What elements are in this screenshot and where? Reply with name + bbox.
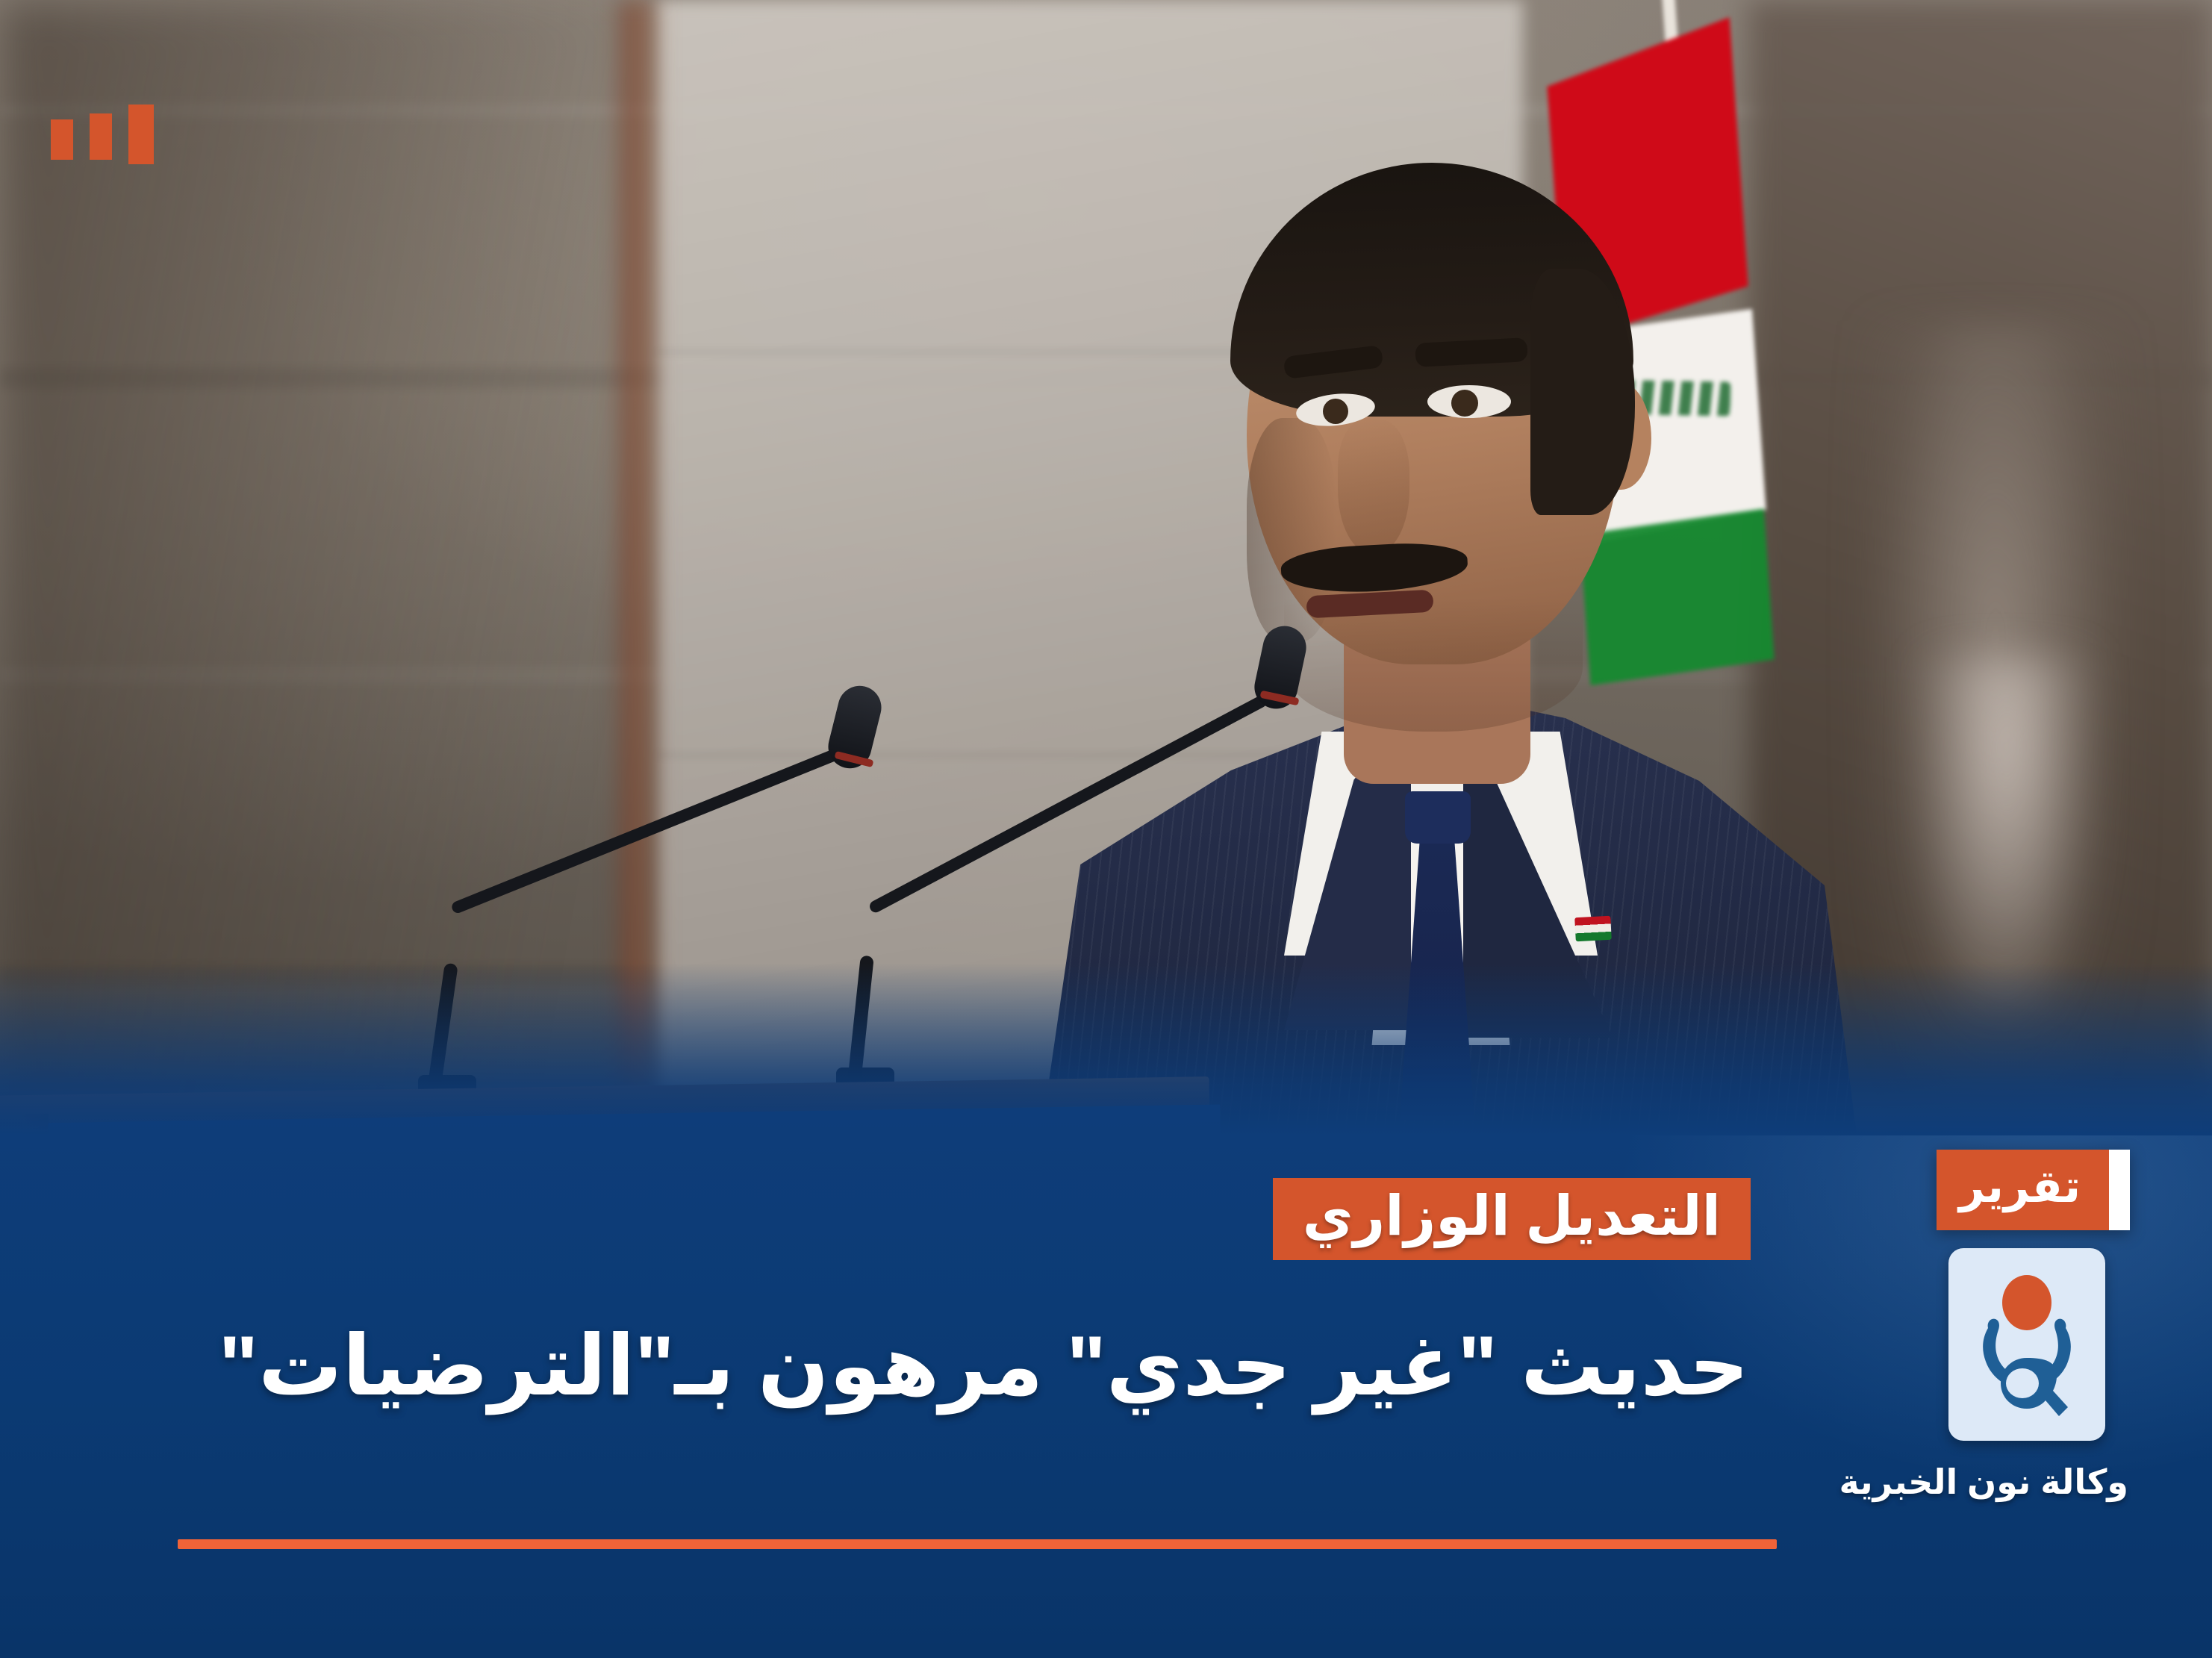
panel-top-fade xyxy=(0,964,2212,1135)
headline: حديث "غير جدي" مرهون بـ"الترضيات" xyxy=(179,1314,1749,1418)
brand-bar-2 xyxy=(90,113,112,160)
brand-bar-1 xyxy=(128,105,154,164)
agency-logo-tile xyxy=(1948,1248,2105,1441)
news-card: التعديل الوزاري حديث "غير جدي" مرهون بـ"… xyxy=(0,0,2212,1658)
three-orange-bars-logo-icon xyxy=(51,105,154,164)
report-badge-label: تقرير xyxy=(1937,1150,2109,1230)
kicker-badge: التعديل الوزاري xyxy=(1273,1178,1751,1260)
noon-agency-logo-icon xyxy=(1964,1270,2090,1419)
orange-divider-rule xyxy=(178,1539,1777,1549)
report-badge-white-bar xyxy=(2109,1150,2130,1230)
brand-bar-3 xyxy=(51,119,73,160)
report-badge: تقرير xyxy=(1937,1150,2130,1230)
